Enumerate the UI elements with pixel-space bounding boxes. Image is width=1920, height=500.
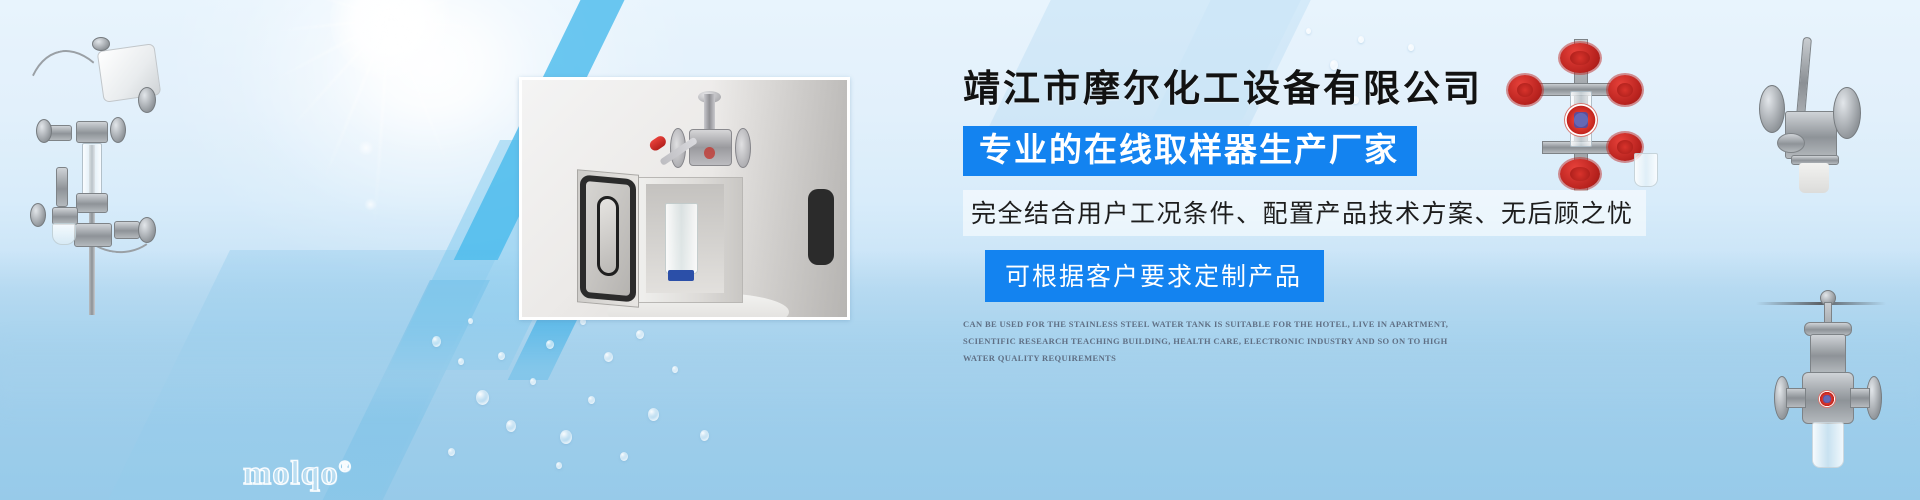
flange-right (1833, 87, 1861, 139)
handwheel-red (1560, 43, 1600, 73)
valve-body (114, 221, 140, 239)
headline-text: 专业的在线取样器生产厂家 (979, 131, 1399, 168)
promotional-banner: 靖江市摩尔化工设备有限公司 专业的在线取样器生产厂家 完全结合用户工况条件、配置… (0, 0, 1920, 500)
flange-disc (36, 119, 52, 143)
bonnet-neck (1810, 334, 1846, 374)
water-droplet (448, 448, 455, 456)
custom-product-highlight-bar: 可根据客户要求定制产品 (985, 250, 1324, 302)
product-image-inline-sampling-valve (1768, 280, 1888, 470)
english-description-paragraph: CAN BE USED FOR THE STAINLESS STEEL WATE… (963, 316, 1463, 367)
subhead-highlight-bar: 完全结合用户工况条件、配置产品技术方案、无后顾之忧 (963, 190, 1646, 236)
sample-bottle (52, 223, 76, 245)
water-droplet (560, 430, 572, 444)
sun-ray (373, 18, 390, 228)
product-image-left-sampling-assembly (14, 25, 174, 315)
door-gasket (580, 175, 636, 303)
water-droplet (648, 408, 659, 421)
sun-ray (388, 0, 439, 20)
valve-body (74, 223, 112, 247)
marketing-text-block: 靖江市摩尔化工设备有限公司 专业的在线取样器生产厂家 完全结合用户工况条件、配置… (963, 70, 1783, 367)
sample-bottle (1812, 422, 1844, 468)
water-droplet (506, 420, 516, 432)
sun-ray (275, 18, 391, 81)
lens-flare-dot (364, 198, 377, 211)
sun-ray (388, 18, 498, 31)
photo-content (522, 80, 847, 317)
water-droplet (1358, 36, 1364, 43)
flange-disc (110, 117, 126, 143)
valve-body (76, 121, 108, 143)
custom-product-text: 可根据客户要求定制产品 (1005, 263, 1302, 291)
relief-valve (56, 167, 68, 207)
valve-body (76, 193, 108, 213)
water-droplet (588, 396, 595, 404)
subhead-text: 完全结合用户工况条件、配置产品技术方案、无后顾之忧 (971, 200, 1634, 228)
registered-mark-icon: ® (339, 459, 352, 476)
brand-watermark: molqo® (243, 455, 352, 493)
sun-ray (388, 18, 483, 123)
water-droplet (556, 462, 562, 469)
cabinet-handle (808, 189, 834, 265)
water-droplet (498, 352, 505, 360)
water-droplet (432, 336, 441, 347)
valve-stem (704, 94, 715, 133)
port-left (1786, 388, 1806, 408)
company-name: 靖江市摩尔化工设备有限公司 (963, 70, 1783, 111)
sample-bottle (665, 203, 698, 274)
sun-ray (295, 0, 391, 20)
bottle-cap (668, 270, 694, 282)
water-droplet (1408, 44, 1414, 51)
flange-disc (30, 203, 46, 227)
sample-bottle (1799, 163, 1829, 193)
water-droplet (468, 318, 473, 324)
sun-ray (388, 18, 495, 76)
sun-ray (276, 18, 391, 32)
sight-glass-tube (82, 143, 102, 195)
water-droplet (458, 358, 464, 365)
sun-ray (336, 0, 390, 20)
sun-ray (382, 0, 390, 20)
flange-disc (138, 87, 156, 113)
flange-right (735, 128, 751, 168)
water-droplet (604, 352, 613, 362)
watermark-text: molqo (243, 455, 339, 492)
water-droplet (636, 330, 644, 339)
sun-ray (388, 0, 479, 20)
flange-disc (138, 217, 156, 243)
headline-highlight-bar: 专业的在线取样器生产厂家 (963, 126, 1417, 176)
brand-logo-badge (1818, 390, 1836, 408)
sun-ray (388, 18, 450, 167)
port-right (1850, 388, 1870, 408)
water-droplet (530, 378, 536, 385)
sun-core-icon (330, 0, 450, 80)
door-window (597, 196, 620, 278)
water-droplet (476, 390, 489, 405)
lens-flare-dot (358, 140, 374, 156)
water-droplet (1306, 28, 1311, 34)
flange-disc (92, 37, 110, 51)
sun-ray (289, 18, 391, 131)
water-droplet (546, 340, 554, 349)
center-product-photo (519, 77, 850, 320)
water-droplet (700, 430, 709, 441)
cabinet-door (577, 170, 639, 308)
top-mounted-valve (672, 94, 750, 182)
water-droplet (672, 366, 678, 373)
sun-ray (323, 18, 390, 181)
valve-lever-grip-red (648, 134, 669, 153)
water-droplet (620, 452, 628, 461)
